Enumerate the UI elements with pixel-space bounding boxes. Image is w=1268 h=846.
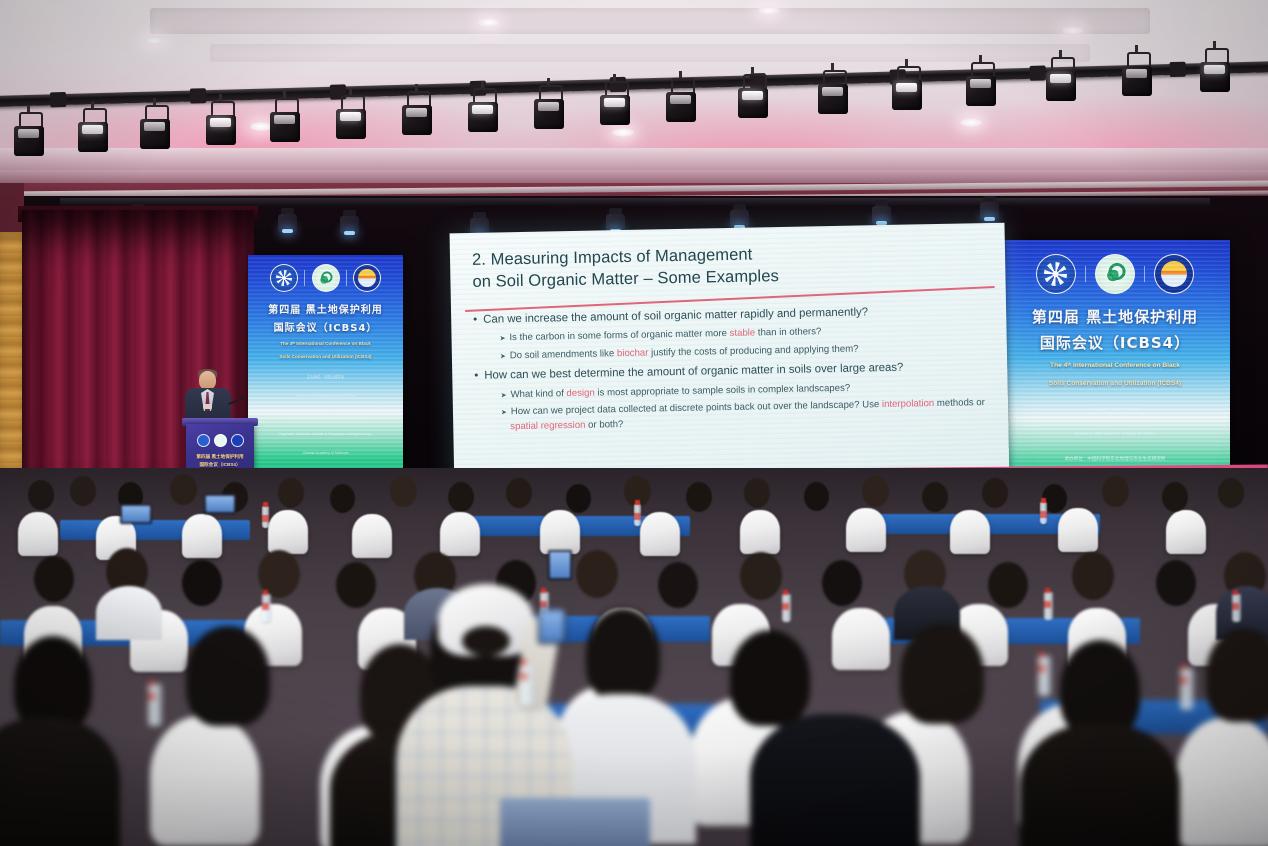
banner-organizer-cn: 主办单位：中国土壤学会 — [1000, 407, 1230, 414]
banner-chinese-title-line2: 国际会议（ICBS4） — [248, 319, 403, 334]
audience-head — [686, 482, 712, 512]
audience-head — [182, 560, 222, 606]
projection-screen: 2. Measuring Impacts of Management on So… — [450, 223, 1010, 496]
subbullet-1-keyword: stable — [730, 328, 756, 339]
audience-head — [658, 562, 698, 608]
banner-english-title-line1: The 4ᵗʰ International Conference on Blac… — [248, 341, 403, 347]
audience-head — [278, 478, 304, 508]
cap-back-opening — [462, 626, 510, 656]
banner-english-title-line1: The 4ᵗʰ International Conference on Blac… — [1000, 362, 1230, 371]
conference-hall-photo: 第四届 黑土地保护利用 国际会议（ICBS4） The 4ᵗʰ Internat… — [0, 0, 1268, 846]
audience-head — [1162, 482, 1188, 512]
audience-head — [448, 482, 474, 512]
audience-head — [336, 562, 376, 608]
banner-host-cn: 承办单位：中国科学院东北地理与农业生态研究所 — [1000, 456, 1230, 463]
banner-host-en1: Organizer: Northeast Institute of Geogra… — [248, 432, 403, 437]
audience-head — [1206, 628, 1268, 722]
agroecology-institute-logo-icon — [353, 264, 381, 292]
stage-spotlight — [402, 91, 432, 137]
stage-spotlight — [140, 105, 170, 151]
ceiling-downlight — [758, 6, 780, 15]
audience-torso — [750, 714, 920, 846]
podium-title-cn: 第四届 黑土地保护利用 — [186, 454, 254, 461]
podium-logo-row — [186, 434, 254, 447]
stage-spotlight — [206, 101, 236, 147]
podium-logo-3-icon — [231, 434, 244, 447]
podium-logo-1-icon — [197, 434, 210, 447]
banner-english-title-line2: Soils Conservation and Utilization (ICBS… — [248, 354, 403, 360]
audience-seating-area — [0, 468, 1268, 846]
ceiling-downlight — [250, 122, 272, 131]
audience-torso — [1020, 724, 1180, 846]
audience-head — [566, 484, 591, 513]
audience-head — [982, 478, 1008, 508]
slide-subbullet-4: How can we project data collected at dis… — [501, 396, 990, 435]
banner-logo-row — [248, 264, 403, 292]
stage-spotlight — [534, 85, 564, 131]
audience-head — [862, 476, 889, 507]
audience-head — [804, 482, 829, 511]
audience-head — [740, 552, 782, 600]
banner-chinese-title-line1: 第四届 黑土地保护利用 — [1000, 306, 1230, 327]
audience-head — [900, 624, 984, 724]
audience-head — [586, 608, 660, 700]
stage-spotlight — [738, 74, 768, 120]
moving-head-light — [340, 210, 359, 236]
subbullet-4-keyword2: spatial regression — [510, 420, 585, 432]
subbullet-2-pre: Do soil amendments like — [510, 348, 617, 361]
water-bottle — [1180, 668, 1194, 710]
water-bottle — [1038, 656, 1051, 696]
banner-host-cn: 承办单位：中国科学院东北地理与农业生态研究所 — [248, 413, 403, 418]
slide-title: 2. Measuring Impacts of Management on So… — [472, 239, 988, 293]
laptop-screen — [500, 798, 650, 846]
water-bottle — [1044, 592, 1053, 620]
audience-torso — [96, 586, 162, 640]
moving-head-light — [730, 204, 749, 230]
audience-head — [1102, 476, 1129, 507]
soil-science-society-logo-icon — [1036, 254, 1076, 294]
audience-head — [988, 562, 1028, 608]
subbullet-1-post: than in others? — [755, 326, 821, 338]
audience-head — [390, 476, 417, 507]
podium-logo-2-icon — [214, 434, 227, 447]
water-bottle — [262, 594, 271, 622]
audience-head — [922, 482, 948, 512]
subbullet-3-pre: What kind of — [510, 388, 566, 400]
audience-head — [70, 476, 96, 506]
audience-head — [1072, 552, 1114, 600]
moving-head-light — [278, 208, 297, 234]
soil-science-society-logo-icon — [270, 264, 298, 292]
inner-lighting-truss — [60, 198, 1210, 206]
banner-english-title-line2: Soils Conservation and Utilization (ICBS… — [1000, 380, 1230, 389]
subbullet-4-pre: How can we project data collected at dis… — [511, 400, 882, 418]
moving-head-light — [980, 196, 999, 222]
stage-spotlight — [892, 66, 922, 112]
subbullet-4-keyword: interpolation — [882, 399, 934, 411]
audience-head — [186, 626, 270, 726]
audience-head — [730, 630, 810, 726]
audience-head — [1218, 478, 1244, 508]
subbullet-1-pre: Is the carbon in some forms of organic m… — [509, 328, 729, 343]
stage-spotlight — [600, 81, 630, 127]
agroecology-institute-logo-icon — [1154, 254, 1194, 294]
audience-head — [170, 474, 197, 505]
speaker-name-badge — [203, 404, 212, 409]
stage-spotlight — [1122, 52, 1152, 98]
banner-host-en2: Chinese Academy of Sciences — [248, 451, 403, 456]
ceiling-downlight — [143, 36, 165, 45]
audience-head — [1156, 560, 1196, 606]
audience-head — [744, 478, 770, 508]
water-bottle — [148, 684, 162, 726]
subbullet-3-post: is most appropriate to sample soils in c… — [595, 382, 851, 398]
stage-spotlight — [1046, 57, 1076, 103]
subbullet-4-mid: methods or — [934, 398, 985, 410]
banner-organizer-en: Sponsor: Soil Science Society of China — [1000, 431, 1230, 438]
water-bottle — [1232, 594, 1241, 622]
subbullet-2-keyword: biochar — [617, 348, 649, 360]
banner-organizer-en: Sponsor: Soil Science Society of China — [248, 394, 403, 399]
audience-phone-held — [538, 608, 566, 644]
ceiling-downlight — [612, 128, 634, 137]
stage-spotlight — [666, 78, 696, 124]
water-bottle — [520, 664, 534, 706]
audience-head — [330, 484, 355, 513]
audience-head — [28, 480, 54, 510]
audience-head — [34, 556, 74, 602]
green-swirl-logo-icon — [312, 264, 340, 292]
stage-spotlight — [336, 95, 366, 141]
water-bottle — [634, 504, 641, 526]
audience-head — [822, 560, 862, 606]
stage-spotlight — [270, 98, 300, 144]
banner-chinese-title-line2: 国际会议（ICBS4） — [1000, 332, 1230, 353]
ceiling-downlight — [960, 118, 982, 127]
stage-spotlight — [468, 88, 498, 134]
audience-torso — [0, 718, 120, 846]
subbullet-4-post: or both? — [585, 419, 623, 431]
audience-phone — [204, 494, 236, 514]
audience-phone — [120, 504, 152, 524]
stage-spotlight — [966, 62, 996, 108]
conference-banner-left: 第四届 黑土地保护利用 国际会议（ICBS4） The 4ᵗʰ Internat… — [248, 255, 403, 487]
water-bottle — [1040, 502, 1047, 524]
audience-head — [506, 478, 532, 508]
subbullet-2-post: justify the costs of producing and apply… — [648, 344, 858, 359]
stage-spotlight — [818, 70, 848, 116]
audience-phone — [548, 550, 572, 580]
audience-head — [576, 550, 618, 598]
ceiling-downlight — [1062, 26, 1084, 35]
ceiling-downlight — [478, 18, 500, 27]
slide-body: Can we increase the amount of soil organ… — [473, 302, 990, 437]
presentation-slide: 2. Measuring Impacts of Management on So… — [450, 223, 1010, 496]
moving-head-light — [872, 200, 891, 226]
subbullet-3-keyword: design — [566, 387, 594, 399]
banner-organizer-cn: 主办单位：中国土壤学会 — [248, 375, 403, 380]
stage-spotlight — [14, 112, 44, 158]
banner-logo-row — [1000, 254, 1230, 294]
green-swirl-logo-icon — [1095, 254, 1135, 294]
water-bottle — [262, 506, 269, 528]
conference-banner-right: 第四届 黑土地保护利用 国际会议（ICBS4） The 4ᵗʰ Internat… — [1000, 240, 1230, 502]
water-bottle — [782, 594, 791, 622]
banner-chinese-title-line1: 第四届 黑土地保护利用 — [248, 301, 403, 316]
stage-spotlight — [1200, 48, 1230, 94]
stage-spotlight — [78, 108, 108, 154]
